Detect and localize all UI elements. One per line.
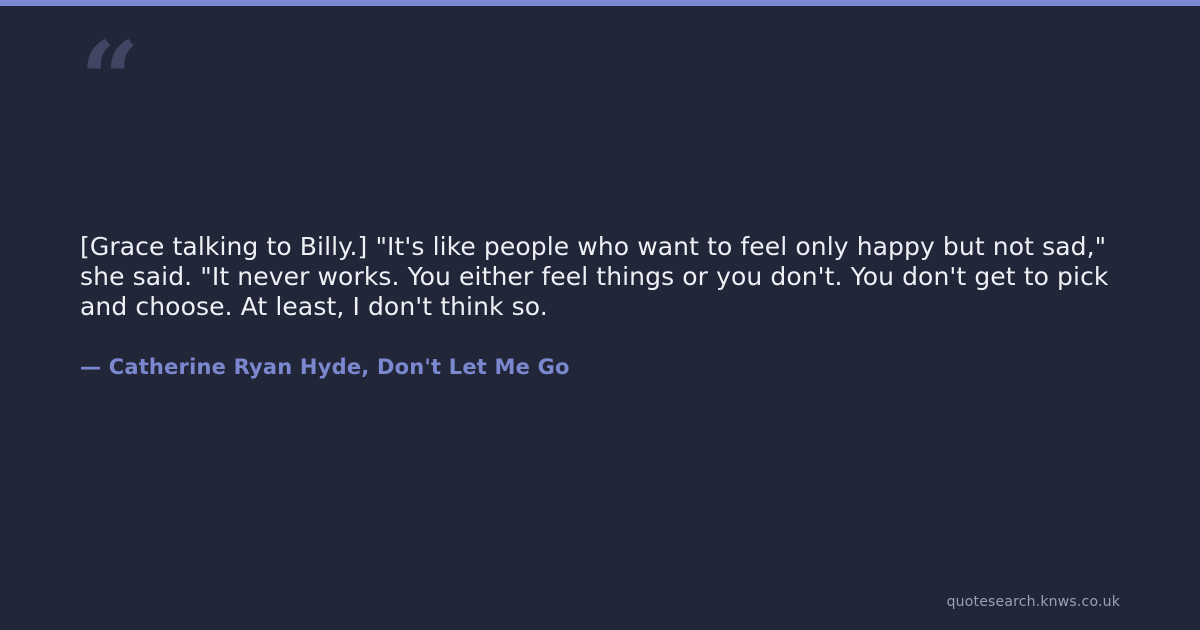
quotation-mark-icon: “: [80, 28, 136, 88]
quote-attribution: — Catherine Ryan Hyde, Don't Let Me Go: [80, 353, 570, 381]
footer-site-url: quotesearch.knws.co.uk: [947, 593, 1120, 611]
quote-card: “ [Grace talking to Billy.] "It's like p…: [0, 6, 1200, 630]
quote-text: [Grace talking to Billy.] "It's like peo…: [80, 232, 1124, 322]
quote-block: [Grace talking to Billy.] "It's like peo…: [80, 232, 1124, 322]
